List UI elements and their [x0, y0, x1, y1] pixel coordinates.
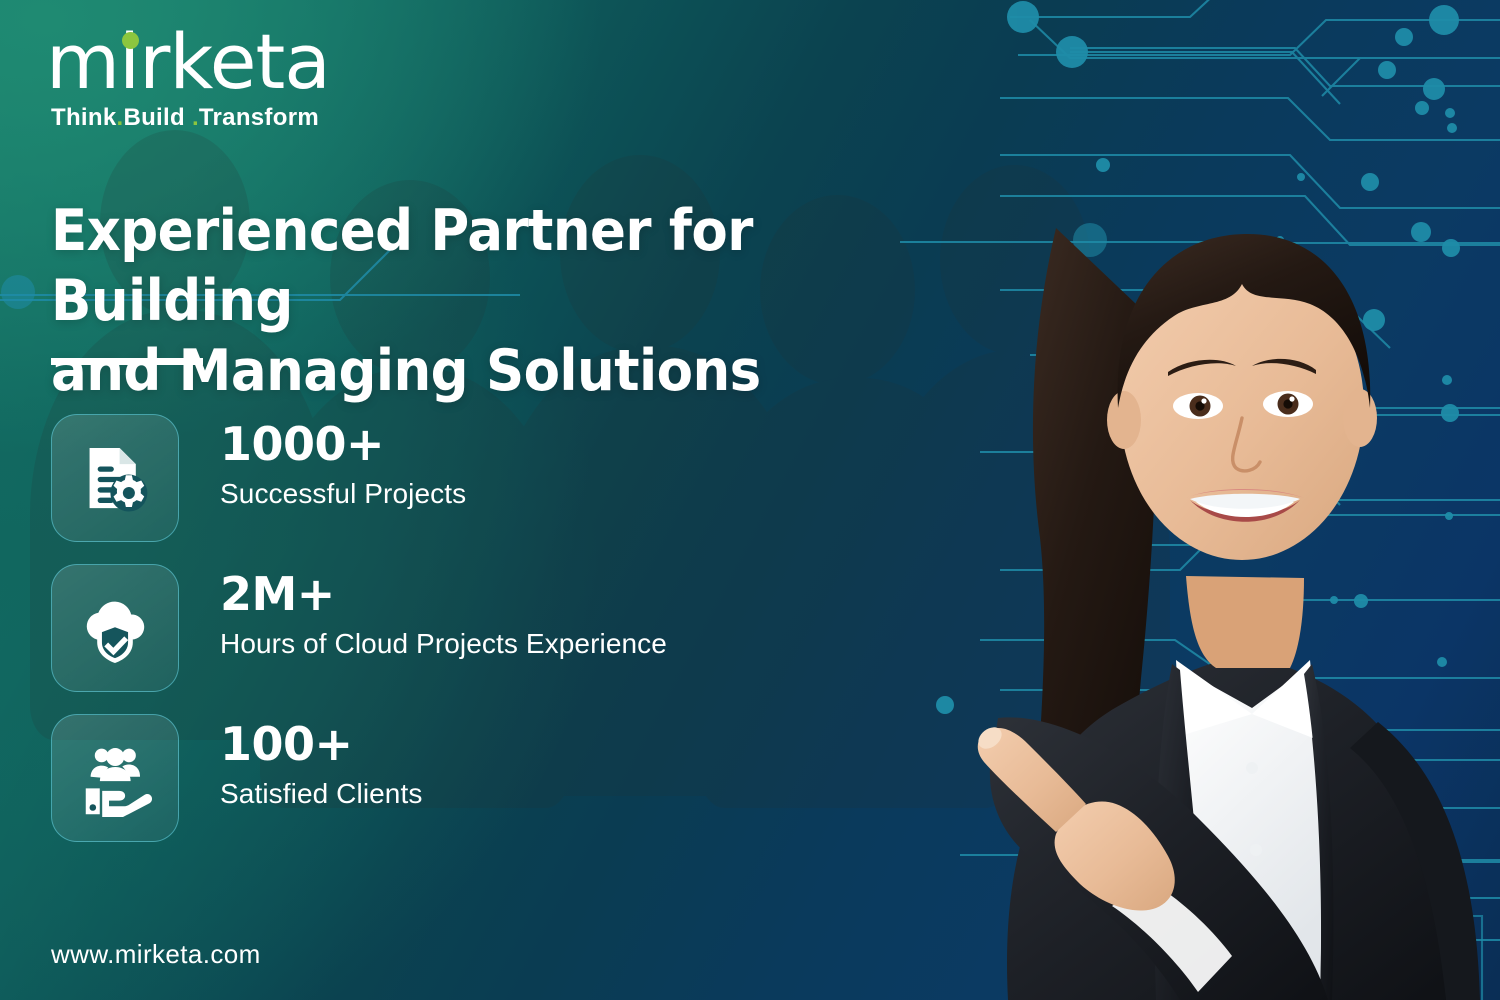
headline-line-2: and Managing Solutions	[51, 336, 944, 406]
stat-label: Hours of Cloud Projects Experience	[220, 628, 667, 660]
stat-label: Successful Projects	[220, 478, 466, 510]
stat-value: 1000+	[220, 420, 466, 468]
stat-icon-box	[51, 564, 179, 692]
title-underline-rule	[51, 358, 203, 365]
stat-text-block: 1000+ Successful Projects	[220, 420, 466, 510]
tagline-think: Think	[51, 104, 117, 131]
stat-icon-box	[51, 714, 179, 842]
cloud-shield-check-icon	[77, 590, 153, 666]
page-title: Experienced Partner for Building and Man…	[51, 196, 944, 406]
stat-value: 2M+	[220, 570, 667, 618]
logo-text: mirketa	[46, 17, 330, 106]
tagline-dot-2-icon: .	[192, 104, 199, 131]
logo[interactable]: mirketa Think.Build .Transform	[46, 26, 330, 132]
green-dot-icon	[122, 32, 139, 49]
logo-wordmark: mirketa	[46, 26, 330, 98]
stat-icon-box	[51, 414, 179, 542]
document-gear-icon	[78, 441, 152, 515]
tagline-transform: Transform	[199, 104, 319, 131]
marketing-banner: mirketa Think.Build .Transform Experienc…	[0, 0, 1500, 1000]
logo-tagline: Think.Build .Transform	[51, 104, 330, 132]
tagline-build: Build	[123, 104, 185, 131]
hand-holding-people-icon	[76, 739, 154, 817]
stat-text-block: 2M+ Hours of Cloud Projects Experience	[220, 570, 667, 660]
tagline-space	[185, 104, 192, 131]
stat-text-block: 100+ Satisfied Clients	[220, 720, 422, 810]
headline-line-1: Experienced Partner for Building	[51, 196, 944, 336]
businesswoman-photo	[880, 108, 1500, 1000]
website-url[interactable]: www.mirketa.com	[51, 939, 261, 970]
stat-label: Satisfied Clients	[220, 778, 422, 810]
stat-value: 100+	[220, 720, 422, 768]
